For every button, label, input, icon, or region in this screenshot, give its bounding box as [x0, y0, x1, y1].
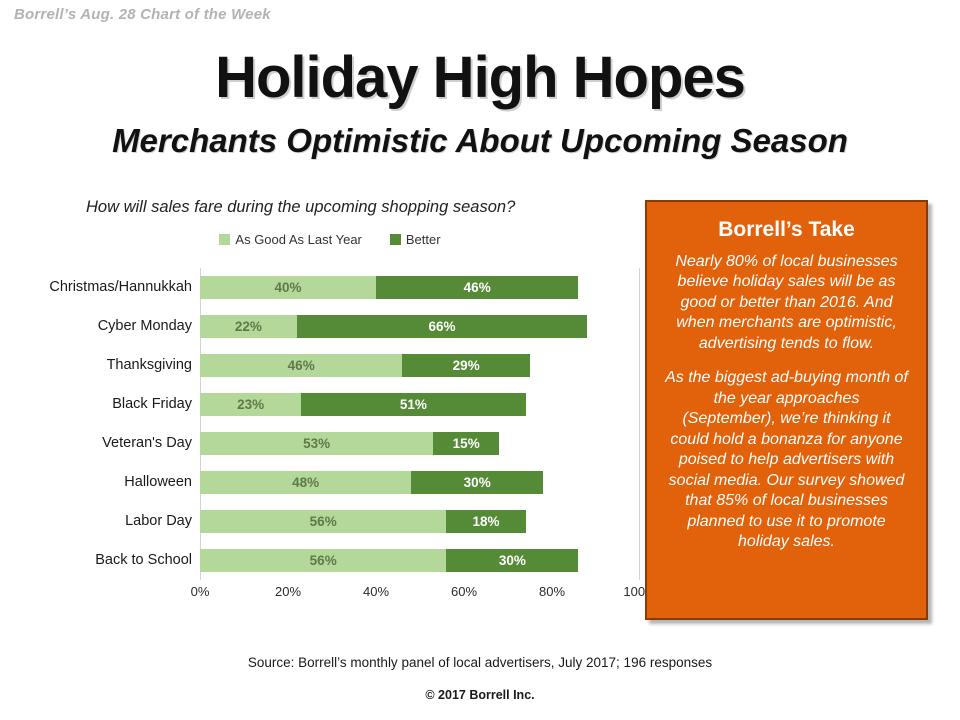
bar-group: 46%29% — [200, 354, 530, 377]
bar-group: 56%30% — [200, 549, 578, 572]
chart-row: Black Friday23%51% — [20, 385, 640, 424]
stacked-bar-chart: As Good As Last YearBetter Christmas/Han… — [20, 232, 640, 627]
legend-label: Better — [406, 232, 441, 247]
bar-segment: 15% — [433, 432, 499, 455]
bar-segment: 53% — [200, 432, 433, 455]
bar-group: 22%66% — [200, 315, 587, 338]
bar-group: 53%15% — [200, 432, 499, 455]
source-note: Source: Borrell’s monthly panel of local… — [0, 655, 960, 670]
chart-row: Veteran's Day53%15% — [20, 424, 640, 463]
chart-row: Cyber Monday22%66% — [20, 307, 640, 346]
copyright-note: © 2017 Borrell Inc. — [0, 688, 960, 702]
bar-group: 48%30% — [200, 471, 543, 494]
bar-segment: 56% — [200, 549, 446, 572]
borrells-take-box: Borrell’s Take Nearly 80% of local busin… — [645, 200, 928, 620]
bar-segment: 23% — [200, 393, 301, 416]
category-label: Thanksgiving — [20, 346, 192, 385]
x-axis-tick: 60% — [451, 584, 477, 599]
bar-segment: 48% — [200, 471, 411, 494]
bar-segment: 46% — [376, 276, 578, 299]
category-label: Christmas/Hannukkah — [20, 268, 192, 307]
take-paragraph-2: As the biggest ad-buying month of the ye… — [665, 368, 908, 552]
bar-segment: 56% — [200, 510, 446, 533]
category-label: Veteran's Day — [20, 424, 192, 463]
category-label: Cyber Monday — [20, 307, 192, 346]
bar-group: 56%18% — [200, 510, 526, 533]
legend-swatch-icon — [390, 234, 401, 245]
bar-segment: 40% — [200, 276, 376, 299]
bar-segment: 46% — [200, 354, 402, 377]
bar-segment: 30% — [411, 471, 543, 494]
category-label: Back to School — [20, 541, 192, 580]
take-heading: Borrell’s Take — [647, 218, 926, 242]
legend-swatch-icon — [219, 234, 230, 245]
bar-segment: 66% — [297, 315, 587, 338]
x-axis-tick: 40% — [363, 584, 389, 599]
chart-row: Back to School56%30% — [20, 541, 640, 580]
bar-group: 40%46% — [200, 276, 578, 299]
chart-row: Halloween48%30% — [20, 463, 640, 502]
x-axis-tick: 80% — [539, 584, 565, 599]
page-subtitle: Merchants Optimistic About Upcoming Seas… — [0, 122, 960, 160]
chart-row: Christmas/Hannukkah40%46% — [20, 268, 640, 307]
legend-item-0: As Good As Last Year — [219, 232, 361, 247]
category-label: Black Friday — [20, 385, 192, 424]
legend-label: As Good As Last Year — [235, 232, 361, 247]
bar-segment: 18% — [446, 510, 525, 533]
kicker-label: Borrell’s Aug. 28 Chart of the Week — [14, 6, 271, 23]
category-label: Halloween — [20, 463, 192, 502]
page-title: Holiday High Hopes — [0, 44, 960, 111]
x-axis-tick: 0% — [191, 584, 210, 599]
take-paragraph-1: Nearly 80% of local businesses believe h… — [665, 252, 908, 354]
chart-rows: Christmas/Hannukkah40%46%Cyber Monday22%… — [20, 268, 640, 580]
chart-legend: As Good As Last YearBetter — [20, 232, 640, 247]
chart-question: How will sales fare during the upcoming … — [86, 198, 515, 217]
x-axis-tick: 20% — [275, 584, 301, 599]
category-label: Labor Day — [20, 502, 192, 541]
chart-row: Labor Day56%18% — [20, 502, 640, 541]
chart-row: Thanksgiving46%29% — [20, 346, 640, 385]
bar-segment: 22% — [200, 315, 297, 338]
bar-segment: 51% — [301, 393, 525, 416]
x-axis: 0%20%40%60%80%100% — [200, 584, 640, 604]
legend-item-1: Better — [390, 232, 441, 247]
bar-segment: 30% — [446, 549, 578, 572]
bar-segment: 29% — [402, 354, 530, 377]
bar-group: 23%51% — [200, 393, 526, 416]
